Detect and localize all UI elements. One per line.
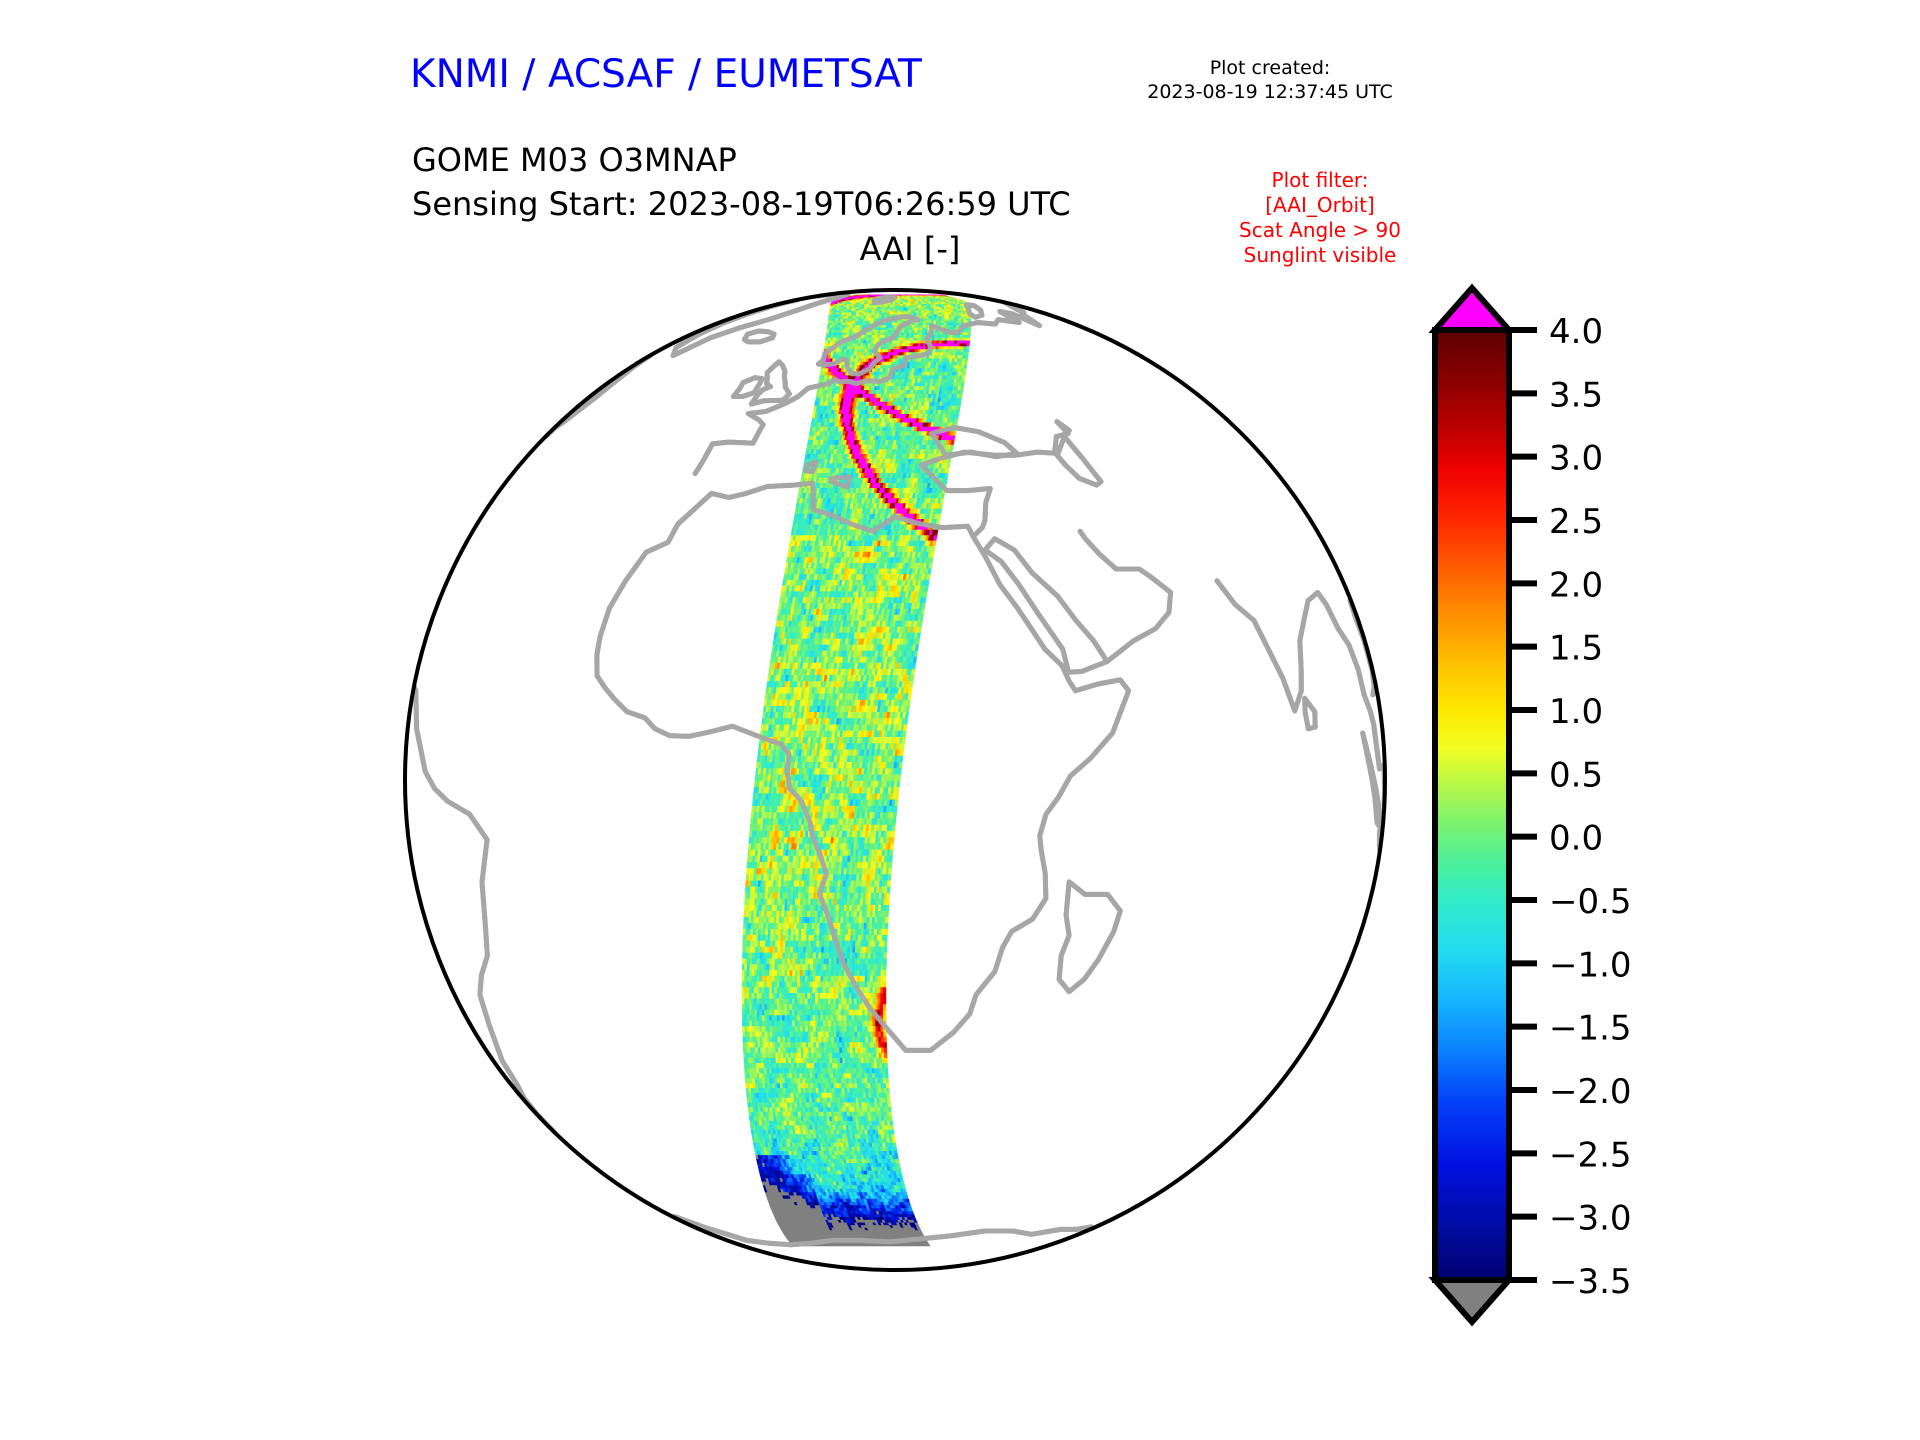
swath-pixel: [949, 326, 952, 328]
swath-pixel: [963, 372, 966, 376]
product-name: GOME M03 O3MNAP: [412, 138, 1071, 182]
swath-pixel: [922, 603, 926, 609]
swath-pixel: [961, 319, 963, 321]
swath-pixel: [942, 317, 945, 319]
swath-pixel: [941, 493, 945, 498]
swath-pixel: [960, 390, 963, 394]
swath-pixel: [944, 321, 947, 323]
swath-pixel: [929, 319, 932, 321]
swath-pixel: [952, 436, 955, 441]
swath-pixel: [949, 317, 952, 319]
swath-pixel: [859, 317, 862, 319]
sensing-start: Sensing Start: 2023-08-19T06:26:59 UTC: [412, 182, 1071, 226]
swath-pixel: [965, 356, 968, 359]
swath-pixel: [967, 338, 970, 341]
swath-pixel: [969, 319, 971, 321]
swath-pixel: [962, 379, 965, 383]
swath-pixel: [956, 414, 959, 418]
swath-pixel: [959, 319, 961, 321]
swath-pixel: [958, 402, 961, 406]
swath-pixel: [956, 410, 959, 414]
swath-pixel: [944, 317, 947, 319]
swath-pixel: [924, 317, 927, 319]
plot-created-label: Plot created:: [1110, 56, 1430, 80]
swath-pixel: [959, 394, 962, 398]
swath-pixel: [944, 319, 947, 321]
swath-pixel: [961, 317, 963, 319]
swath-pixel: [926, 317, 929, 319]
swath-pixel: [968, 335, 971, 338]
swath-pixel: [923, 321, 926, 323]
swath-pixel: [966, 347, 969, 350]
swath-pixel: [949, 319, 952, 321]
swath-pixel: [956, 323, 959, 325]
swath-pixel: [951, 321, 954, 323]
swath-pixel: [897, 321, 900, 323]
swath-pixel: [921, 319, 924, 321]
swath-pixel: [947, 319, 950, 321]
swath-pixel: [930, 558, 934, 564]
swath-pixel: [931, 317, 934, 319]
swath-pixel: [952, 317, 955, 319]
swath-pixel: [967, 341, 970, 344]
map-canvas: [380, 265, 1410, 1295]
swath-pixel: [954, 317, 956, 319]
swath-pixel: [964, 317, 966, 319]
swath-pixel: [968, 333, 971, 336]
swath-pixel: [962, 376, 965, 380]
swath-pixel: [968, 328, 971, 331]
swath-pixel: [931, 319, 934, 321]
swath-pixel: [964, 362, 967, 365]
plot-created-block: Plot created: 2023-08-19 12:37:45 UTC: [1110, 56, 1430, 104]
swath-pixel: [939, 319, 942, 321]
swath-pixel: [968, 330, 971, 333]
swath-pixel: [961, 383, 964, 387]
swath-pixel: [960, 387, 963, 391]
organisation-title: KNMI / ACSAF / EUMETSAT: [410, 52, 922, 97]
swath-pixel: [966, 350, 969, 353]
plot-filter-orbit: [AAI_Orbit]: [1160, 193, 1480, 218]
plot-filter-label: Plot filter:: [1160, 168, 1480, 193]
swath-pixel: [958, 398, 961, 402]
swath-pixel: [939, 504, 943, 509]
swath-pixel: [961, 321, 964, 323]
swath-pixel: [946, 469, 950, 474]
swath-pixel: [946, 321, 949, 323]
swath-pixel: [956, 319, 959, 321]
swath-pixel: [947, 317, 950, 319]
swath-pixel: [957, 406, 960, 410]
swath-pixel: [955, 419, 958, 423]
swath-pixel: [944, 478, 948, 483]
swath-pixel: [959, 317, 961, 319]
swath-pixel: [966, 353, 969, 356]
swath-pixel: [956, 321, 959, 323]
swath-pixel: [957, 317, 959, 319]
swath-pixel: [954, 323, 957, 325]
swath-pixel: [949, 321, 952, 323]
swath-pixel: [963, 369, 966, 373]
swath-pixel: [966, 319, 968, 321]
swath-pixel: [951, 326, 954, 328]
swath-pixel: [947, 459, 950, 464]
swath-pixel: [954, 326, 957, 328]
swath-pixel: [941, 321, 944, 323]
swath-pixel: [939, 317, 942, 319]
swath-pixel: [937, 317, 940, 319]
product-info-block: GOME M03 O3MNAP Sensing Start: 2023-08-1…: [412, 138, 1071, 226]
swath-pixel: [950, 445, 953, 450]
swath-pixel: [848, 317, 851, 319]
swath-pixel: [945, 473, 949, 478]
swath-pixel: [951, 440, 954, 445]
swath-pixel: [939, 323, 942, 325]
page-title: AAI [-]: [600, 230, 1220, 268]
plot-filter-scat-angle: Scat Angle > 90: [1160, 218, 1480, 243]
plot-filter-block: Plot filter: [AAI_Orbit] Scat Angle > 90…: [1160, 168, 1480, 268]
swath-pixel: [964, 319, 966, 321]
swath-pixel: [934, 319, 937, 321]
swath-pixel: [952, 319, 955, 321]
swath-pixel: [965, 359, 968, 362]
plot-created-timestamp: 2023-08-19 12:37:45 UTC: [1110, 80, 1430, 104]
swath-pixel: [964, 365, 967, 368]
swath-pixel: [952, 432, 955, 436]
swath-pixel: [936, 319, 939, 321]
swath-pixel: [861, 319, 864, 321]
swath-pixel: [967, 344, 970, 347]
swath-pixel: [919, 621, 923, 627]
swath-pixel: [942, 319, 945, 321]
swath-pixel: [947, 464, 951, 469]
